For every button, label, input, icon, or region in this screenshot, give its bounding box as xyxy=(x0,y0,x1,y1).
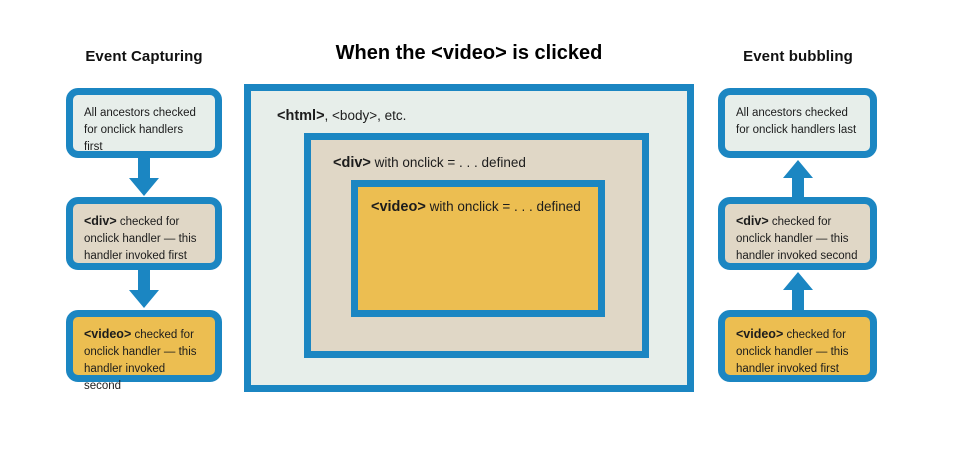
video-panel-tag: <video> xyxy=(371,199,426,215)
bubbling-step-1-box: All ancestors checked for onclick handle… xyxy=(718,88,877,158)
bubbling-step-3-tag: <video> xyxy=(736,327,783,341)
html-panel-rest: , <body>, etc. xyxy=(325,108,407,123)
capturing-step-3-tag: <video> xyxy=(84,327,131,341)
capturing-step-1-box: All ancestors checked for onclick handle… xyxy=(66,88,222,158)
bubbling-step-3-box: <video> checked for onclick handler — th… xyxy=(718,310,877,382)
capturing-arrow-down-2 xyxy=(127,270,161,310)
capturing-arrow-down-1 xyxy=(127,158,161,198)
html-panel-tag: <html> xyxy=(277,108,325,124)
bubbling-step-2-box: <div> checked for onclick handler — this… xyxy=(718,197,877,270)
bubbling-arrow-up-2 xyxy=(781,270,815,310)
bubbling-arrow-up-1 xyxy=(781,158,815,198)
bubbling-step-2-tag: <div> xyxy=(736,214,769,228)
capturing-step-2-tag: <div> xyxy=(84,214,117,228)
center-diagram-title: When the <video> is clicked xyxy=(244,42,694,65)
event-capturing-heading: Event Capturing xyxy=(66,48,222,65)
capturing-step-3-box: <video> checked for onclick handler — th… xyxy=(66,310,222,382)
capturing-step-1-text: All ancestors checked for onclick handle… xyxy=(84,107,196,153)
div-panel-label: <div> with onclick = . . . defined xyxy=(333,155,526,171)
video-panel-rest: with onclick = . . . defined xyxy=(426,199,581,214)
div-panel-rest: with onclick = . . . defined xyxy=(371,155,526,170)
event-bubbling-heading: Event bubbling xyxy=(718,48,878,65)
capturing-step-2-box: <div> checked for onclick handler — this… xyxy=(66,197,222,270)
bubbling-step-1-text: All ancestors checked for onclick handle… xyxy=(736,107,856,136)
html-body-panel: <html>, <body>, etc. <div> with onclick … xyxy=(244,84,694,392)
video-panel: <video> with onclick = . . . defined xyxy=(351,180,605,317)
div-panel-tag: <div> xyxy=(333,155,371,171)
html-panel-label: <html>, <body>, etc. xyxy=(277,108,406,124)
div-panel: <div> with onclick = . . . defined <vide… xyxy=(304,133,649,358)
video-panel-label: <video> with onclick = . . . defined xyxy=(371,199,581,215)
